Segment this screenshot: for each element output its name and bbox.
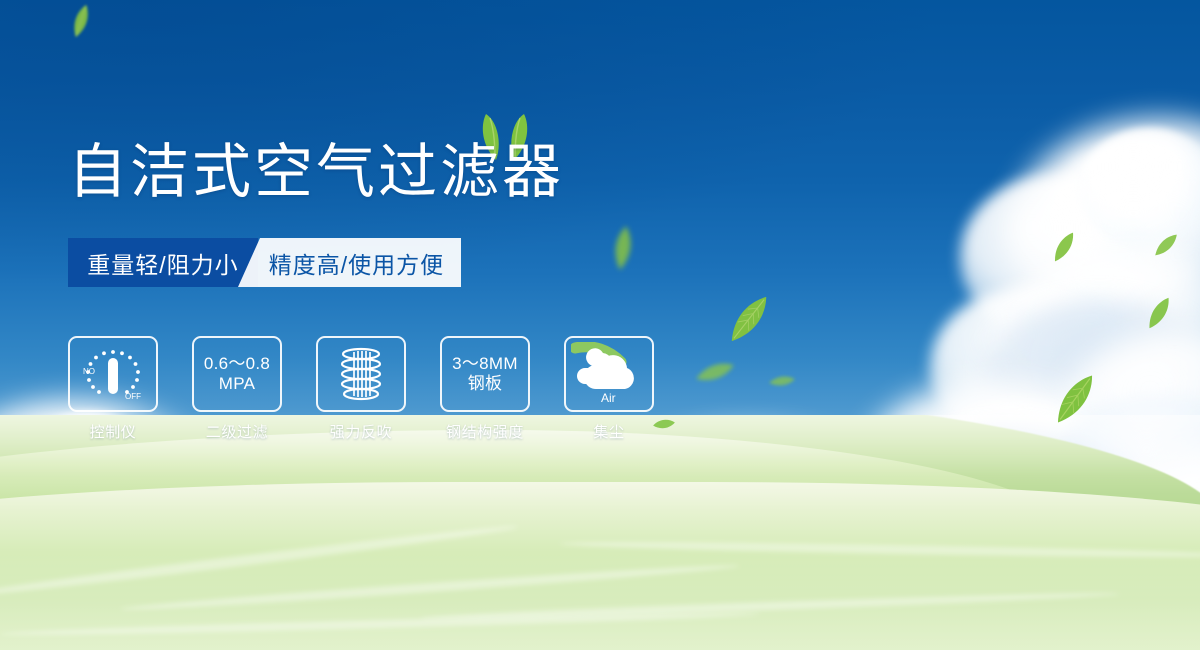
filter-cartridge-icon — [316, 336, 406, 412]
feature-label: 钢结构强度 — [428, 421, 542, 442]
feature-item-blowback[interactable]: 强力反吹 — [316, 336, 406, 442]
banner-content: 自洁式空气过滤器 重量轻/阻力小 精度高/使用方便 — [0, 0, 1200, 650]
dial-on-label: NO — [83, 367, 95, 376]
feature-item-control[interactable]: NO OFF 控制仪 — [68, 336, 158, 442]
control-dial-icon: NO OFF — [68, 336, 158, 412]
feature-item-dust[interactable]: Air 集尘 — [564, 336, 654, 442]
subtitle-right-label: 精度高/使用方便 — [255, 246, 444, 280]
subtitle-left-label: 重量轻/阻力小 — [87, 246, 238, 280]
steel-plate-text-icon: 3～8MM 钢板 — [440, 336, 530, 412]
product-hero-banner: 自洁式空气过滤器 重量轻/阻力小 精度高/使用方便 — [0, 0, 1200, 650]
subtitle-segment-right: 精度高/使用方便 — [238, 238, 461, 287]
feature-label: 二级过滤 — [192, 421, 282, 442]
page-title: 自洁式空气过滤器 — [68, 143, 564, 202]
air-label: Air — [601, 391, 616, 405]
subtitle-bar: 重量轻/阻力小 精度高/使用方便 — [68, 238, 461, 287]
feature-list: NO OFF 控制仪 0.6～0.8 MPA 二级过滤 — [68, 336, 654, 442]
feature-label: 集尘 — [564, 421, 654, 442]
dial-off-label: OFF — [125, 392, 141, 401]
pressure-value: 0.6～0.8 MPA — [204, 354, 270, 394]
feature-item-steel[interactable]: 3～8MM 钢板 钢结构强度 — [440, 336, 530, 442]
pressure-text-icon: 0.6～0.8 MPA — [192, 336, 282, 412]
feature-label: 控制仪 — [68, 421, 158, 442]
feature-label: 强力反吹 — [316, 421, 406, 442]
feature-item-pressure[interactable]: 0.6～0.8 MPA 二级过滤 — [192, 336, 282, 442]
steel-value: 3～8MM 钢板 — [452, 354, 518, 394]
subtitle-segment-left: 重量轻/阻力小 — [68, 238, 258, 287]
air-cloud-icon: Air — [564, 336, 654, 412]
